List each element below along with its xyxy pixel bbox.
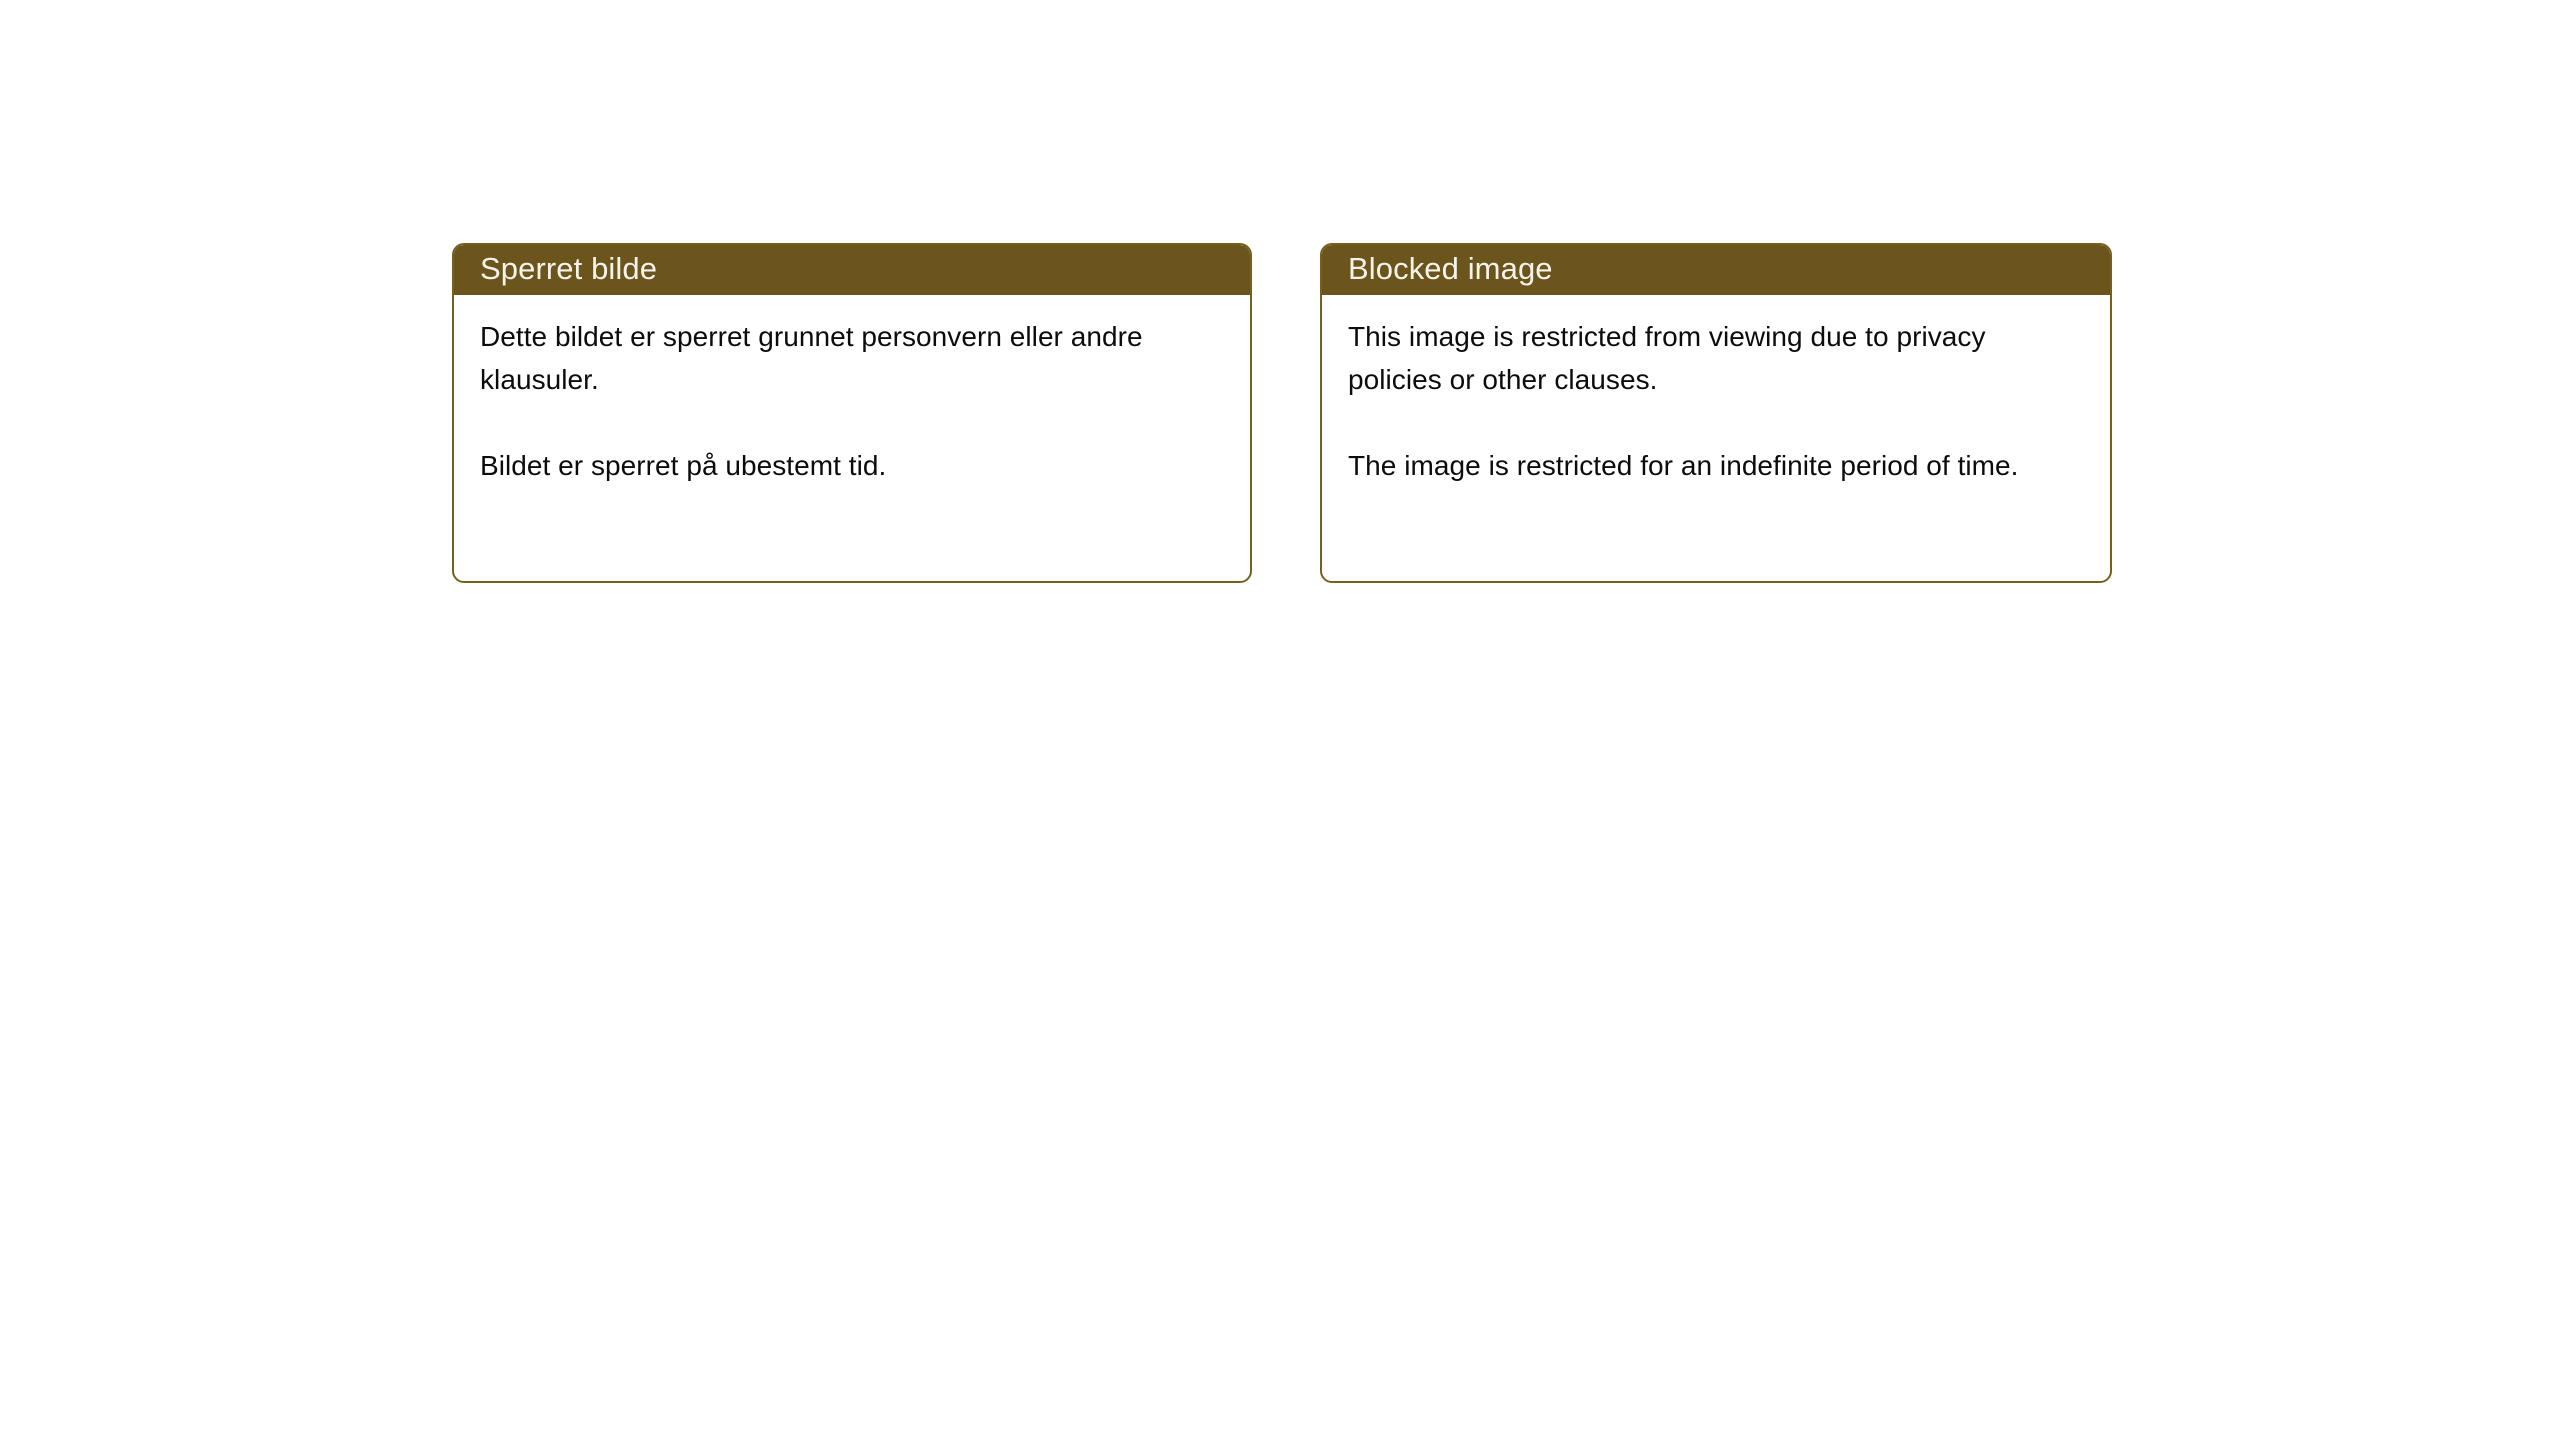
- card-paragraph-reason-english: This image is restricted from viewing du…: [1348, 315, 2084, 401]
- card-paragraph-duration-english: The image is restricted for an indefinit…: [1348, 444, 2084, 487]
- card-header-english: Blocked image: [1320, 243, 2112, 295]
- card-body-norwegian: Dette bildet er sperret grunnet personve…: [454, 295, 1250, 487]
- card-header-norwegian: Sperret bilde: [452, 243, 1252, 295]
- blocked-image-notice-card-norwegian: Sperret bilde Dette bildet er sperret gr…: [452, 243, 1252, 583]
- card-paragraph-duration-norwegian: Bildet er sperret på ubestemt tid.: [480, 444, 1224, 487]
- card-title-english: Blocked image: [1348, 252, 1553, 286]
- page-root: Sperret bilde Dette bildet er sperret gr…: [0, 0, 2560, 1440]
- card-title-norwegian: Sperret bilde: [480, 252, 657, 286]
- card-body-english: This image is restricted from viewing du…: [1322, 295, 2110, 487]
- blocked-image-notice-card-english: Blocked image This image is restricted f…: [1320, 243, 2112, 583]
- card-paragraph-reason-norwegian: Dette bildet er sperret grunnet personve…: [480, 315, 1224, 401]
